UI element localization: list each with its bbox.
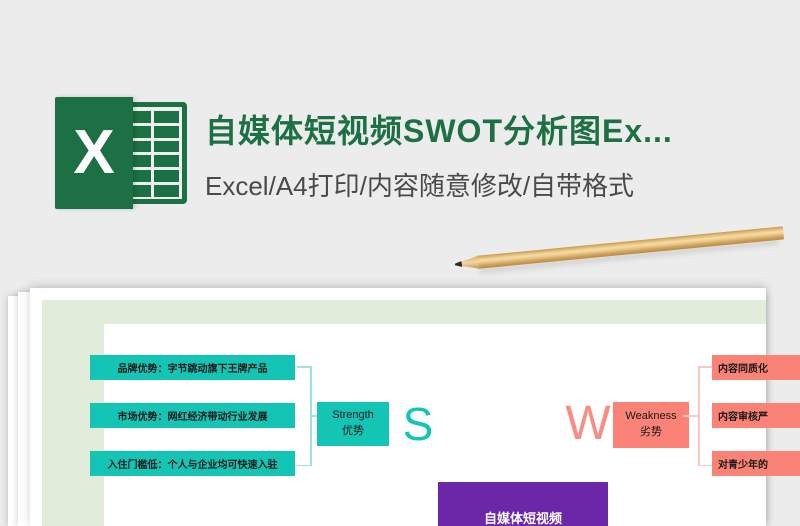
swot-center-topic[interactable]: 自媒体短视频 bbox=[438, 482, 608, 526]
weakness-hub-label-cn: 劣势 bbox=[640, 425, 662, 441]
strength-hub[interactable]: Strength 优势 bbox=[317, 402, 389, 446]
excel-logo-icon: X bbox=[55, 97, 187, 209]
screenshot-canvas: X 自媒体短视频SWOT分析图Ex... Excel/A4打印/内容随意修改/自… bbox=[0, 0, 800, 526]
page-title: 自媒体短视频SWOT分析图Ex... bbox=[205, 108, 785, 154]
weakness-connector bbox=[692, 366, 712, 466]
strength-item-1[interactable]: 市场优势：网红经济带动行业发展 bbox=[90, 403, 295, 428]
weakness-item-0[interactable]: 内容同质化 bbox=[712, 355, 800, 380]
page-subtitle: Excel/A4打印/内容随意修改/自带格式 bbox=[205, 166, 785, 206]
pencil-lead-icon bbox=[455, 261, 463, 268]
strength-item-0[interactable]: 品牌优势：字节跳动旗下王牌产品 bbox=[90, 355, 295, 380]
weakness-hub[interactable]: Weakness 劣势 bbox=[613, 402, 689, 448]
strength-letter: S bbox=[396, 400, 440, 448]
weakness-letter: W bbox=[563, 399, 613, 449]
strength-hub-label-cn: 优势 bbox=[342, 424, 364, 440]
strength-item-2[interactable]: 入住门槛低：个人与企业均可快速入驻 bbox=[90, 451, 295, 476]
strength-hub-label-en: Strength bbox=[332, 408, 374, 424]
pencil-decoration bbox=[454, 218, 785, 279]
weakness-hub-label-en: Weakness bbox=[625, 409, 676, 425]
weakness-item-2[interactable]: 对青少年的 bbox=[712, 451, 800, 476]
excel-logo-letter: X bbox=[55, 97, 133, 209]
product-banner: X 自媒体短视频SWOT分析图Ex... Excel/A4打印/内容随意修改/自… bbox=[0, 40, 800, 200]
weakness-item-1[interactable]: 内容审核严 bbox=[712, 403, 800, 428]
strength-connector bbox=[297, 366, 317, 466]
